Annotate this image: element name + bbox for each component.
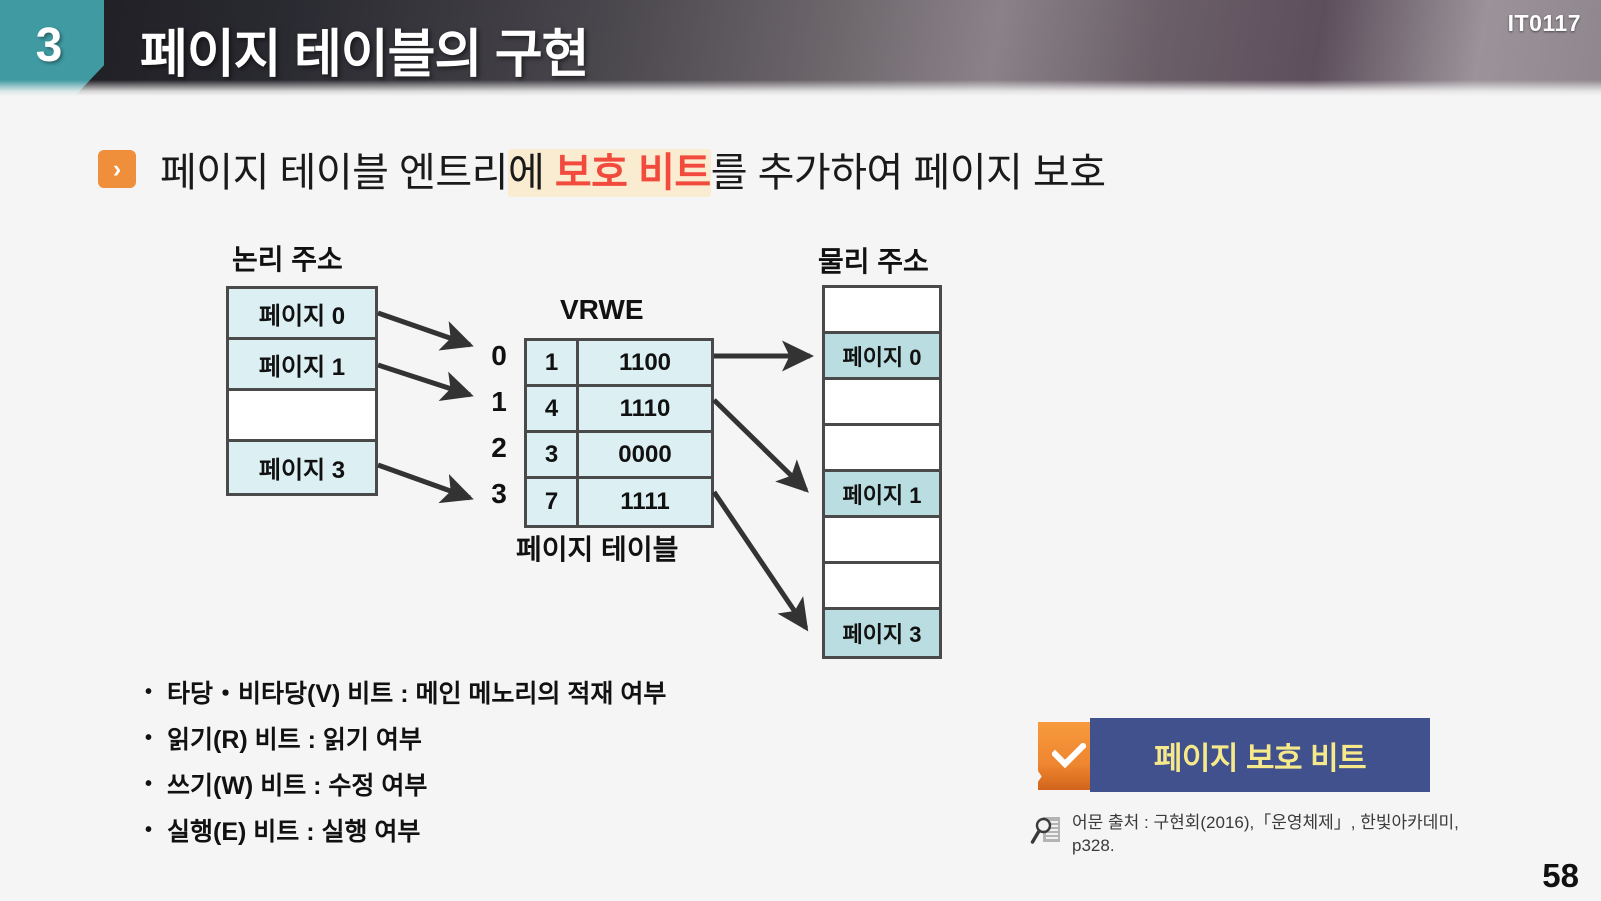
table-row: [825, 564, 939, 610]
physical-cell: 페이지 0: [825, 334, 939, 377]
table-row: 3 0000: [527, 433, 711, 479]
logical-cell: 페이지 1: [229, 340, 375, 388]
arrow-logical3-to-index3: [378, 465, 470, 498]
table-row: 페이지 0: [229, 289, 375, 340]
citation: 어문 출처 : 구현회(2016),「운영체제」, 한빛아카데미, p328.: [1030, 812, 1530, 858]
page-table-frame-cell: 4: [527, 387, 579, 430]
list-item: • 실행(E) 비트 : 실행 여부: [145, 816, 785, 848]
page-table-frame-cell: 3: [527, 433, 579, 476]
table-row: [825, 426, 939, 472]
table-row: 페이지 3: [229, 442, 375, 493]
physical-cell: 페이지 1: [825, 472, 939, 515]
logical-cell: [229, 391, 375, 439]
bullet-dot-icon: •: [145, 816, 167, 848]
bullet-text: 실행(E) 비트 : 실행 여부: [167, 816, 785, 848]
citation-line1: 어문 출처 : 구현회(2016),「운영체제」, 한빛아카데미,: [1072, 812, 1459, 835]
arrow-logical1-to-index1: [378, 365, 470, 395]
list-item: • 읽기(R) 비트 : 읽기 여부: [145, 724, 785, 756]
physical-address-label: 물리 주소: [818, 240, 929, 280]
callout-label: 페이지 보호 비트: [1154, 733, 1366, 778]
slide: 3 페이지 테이블의 구현 IT0117 › 페이지 테이블 엔트리에 보호 비…: [0, 0, 1601, 901]
bullet-text: 타당・비타당(V) 비트 : 메인 메노리의 적재 여부: [167, 678, 785, 710]
physical-cell: 페이지 3: [825, 610, 939, 656]
page-table-bits-cell: 1100: [579, 341, 711, 384]
physical-cell: [825, 288, 939, 331]
bullet-text: 읽기(R) 비트 : 읽기 여부: [167, 724, 785, 756]
bullet-text: 쓰기(W) 비트 : 수정 여부: [167, 770, 785, 802]
physical-cell: [825, 380, 939, 423]
bullet-dot-icon: •: [145, 678, 167, 710]
page-table-index: 0: [486, 340, 512, 372]
arrow-pte3-to-frame7: [714, 492, 806, 628]
arrow-logical0-to-index0: [378, 313, 470, 345]
page-table-bits-cell: 1110: [579, 387, 711, 430]
physical-cell: [825, 564, 939, 607]
page-table-bits-cell: 0000: [579, 433, 711, 476]
table-row: 페이지 0: [825, 334, 939, 380]
citation-line2: p328.: [1072, 835, 1459, 858]
magnifier-document-icon: [1030, 814, 1066, 851]
page-number: 58: [1542, 857, 1579, 895]
arrow-pte1-to-frame4: [714, 400, 806, 490]
table-row: [229, 391, 375, 442]
page-table-index: 1: [486, 386, 512, 418]
bullet-dot-icon: •: [145, 724, 167, 756]
table-row: [825, 288, 939, 334]
page-table-index: 2: [486, 432, 512, 464]
logical-address-label: 논리 주소: [232, 238, 343, 278]
page-table-index: 3: [486, 478, 512, 510]
physical-cell: [825, 518, 939, 561]
bullet-dot-icon: •: [145, 770, 167, 802]
physical-address-table: 페이지 0 페이지 1 페이지 3: [822, 285, 942, 659]
logical-cell: 페이지 0: [229, 289, 375, 337]
table-row: 4 1110: [527, 387, 711, 433]
citation-text: 어문 출처 : 구현회(2016),「운영체제」, 한빛아카데미, p328.: [1072, 812, 1459, 858]
list-item: • 타당・비타당(V) 비트 : 메인 메노리의 적재 여부: [145, 678, 785, 710]
table-row: 페이지 3: [825, 610, 939, 656]
logical-cell: 페이지 3: [229, 442, 375, 493]
page-table-frame-cell: 1: [527, 341, 579, 384]
table-row: [825, 380, 939, 426]
logical-address-table: 페이지 0 페이지 1 페이지 3: [226, 286, 378, 496]
callout-box: 페이지 보호 비트: [1090, 718, 1430, 792]
table-row: 7 1111: [527, 479, 711, 525]
page-table-header-label: VRWE: [560, 294, 644, 326]
page-table-frame-cell: 7: [527, 479, 579, 525]
page-table-label: 페이지 테이블: [516, 528, 678, 568]
physical-cell: [825, 426, 939, 469]
list-item: • 쓰기(W) 비트 : 수정 여부: [145, 770, 785, 802]
bullet-list: • 타당・비타당(V) 비트 : 메인 메노리의 적재 여부 • 읽기(R) 비…: [145, 678, 785, 862]
page-table: 1 1100 4 1110 3 0000 7 1111: [524, 338, 714, 528]
page-table-bits-cell: 1111: [579, 479, 711, 525]
table-row: 페이지 1: [825, 472, 939, 518]
table-row: 페이지 1: [229, 340, 375, 391]
table-row: 1 1100: [527, 341, 711, 387]
table-row: [825, 518, 939, 564]
